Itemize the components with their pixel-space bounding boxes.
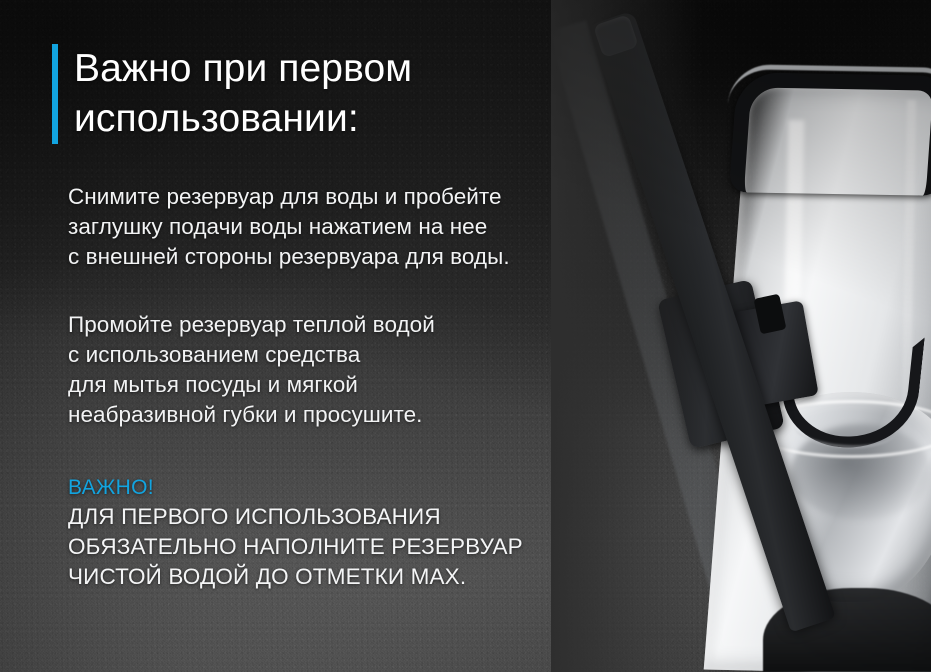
tank-black-collar (729, 72, 931, 196)
important-note-title: ВАЖНО! (68, 474, 523, 502)
instruction-paragraph-2: Промойте резервуар теплой водой с исполь… (68, 310, 435, 430)
text-content: Важно при первом использовании: Снимите … (0, 0, 690, 672)
page-heading: Важно при первом использовании: (52, 44, 412, 144)
instruction-paragraph-1: Снимите резервуар для воды и пробейте за… (68, 182, 510, 272)
accent-bar (52, 44, 58, 144)
important-note-body: ДЛЯ ПЕРВОГО ИСПОЛЬЗОВАНИЯ ОБЯЗАТЕЛЬНО НА… (68, 502, 523, 592)
instruction-slide: Важно при первом использовании: Снимите … (0, 0, 931, 672)
page-title: Важно при первом использовании: (74, 44, 412, 144)
important-note: ВАЖНО! ДЛЯ ПЕРВОГО ИСПОЛЬЗОВАНИЯ ОБЯЗАТЕ… (68, 474, 523, 592)
